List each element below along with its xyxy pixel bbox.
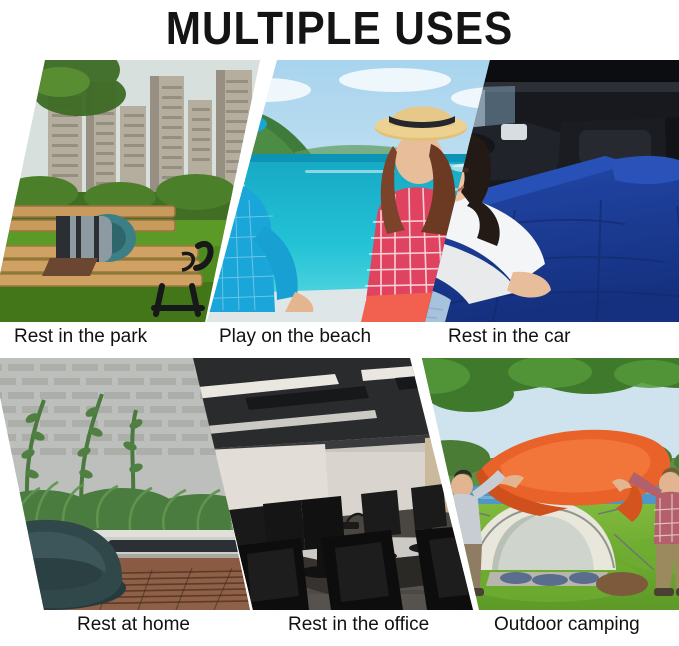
caption-car: Rest in the car: [448, 326, 571, 348]
panel-row-top: [0, 60, 679, 322]
caption-home: Rest at home: [77, 614, 190, 636]
caption-camping: Outdoor camping: [494, 614, 640, 636]
caption-office: Rest in the office: [288, 614, 429, 636]
caption-park: Rest in the park: [14, 326, 147, 348]
page-title: MULTIPLE USES: [27, 0, 652, 56]
caption-beach: Play on the beach: [219, 326, 371, 348]
infographic-root: MULTIPLE USES: [0, 0, 679, 646]
panel-row-bottom: [0, 358, 679, 610]
